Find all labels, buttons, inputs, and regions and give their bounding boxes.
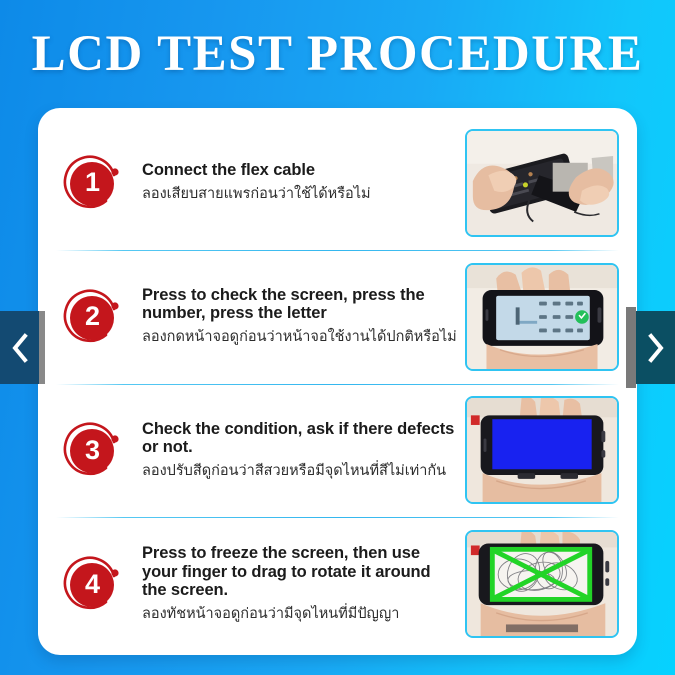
chevron-right-icon: [646, 333, 666, 363]
step-row: 4 Press to freeze the screen, then use y…: [38, 517, 637, 651]
step-title-en: Press to check the screen, press the num…: [142, 286, 457, 323]
step-title-en: Connect the flex cable: [142, 161, 457, 179]
step-photo: [465, 530, 619, 638]
step-number: 1: [60, 151, 124, 215]
steps-card: 1 Connect the flex cable ลองเสียบสายแพรก…: [38, 108, 637, 655]
carousel-prev-button[interactable]: [0, 311, 39, 384]
step-row: 2 Press to check the screen, press the n…: [38, 250, 637, 384]
flex-cable-photo-icon: [467, 131, 617, 235]
step-title-th: ลองทัชหน้าจอดูก่อนว่ามีจุดไหนที่มีปัญญา: [142, 605, 457, 625]
header: LCD TEST PROCEDURE: [0, 0, 675, 100]
page-title: LCD TEST PROCEDURE: [32, 25, 644, 83]
step-photo: [465, 263, 619, 371]
step-number-badge: 1: [58, 151, 132, 215]
step-row: 3 Check the condition, ask if there defe…: [38, 384, 637, 518]
step-row: 1 Connect the flex cable ลองเสียบสายแพรก…: [38, 116, 637, 250]
step-number-badge: 4: [58, 552, 132, 616]
step-number: 3: [60, 418, 124, 482]
step-number: 4: [60, 552, 124, 616]
step-number: 2: [60, 285, 124, 349]
step-text: Connect the flex cable ลองเสียบสายแพรก่อ…: [132, 161, 465, 204]
chevron-left-icon: [10, 333, 30, 363]
carousel-next-button[interactable]: [636, 311, 675, 384]
step-text: Press to freeze the screen, then use you…: [132, 544, 465, 624]
step-text: Check the condition, ask if there defect…: [132, 420, 465, 482]
step-number-badge: 2: [58, 285, 132, 349]
step-title-en: Press to freeze the screen, then use you…: [142, 544, 457, 599]
phone-dialer-photo-icon: [467, 265, 617, 369]
step-title-th: ลองปรับสีดูก่อนว่าสีสวยหรือมีจุดไหนที่สี…: [142, 462, 457, 482]
step-number-badge: 3: [58, 418, 132, 482]
touch-test-photo-icon: [467, 532, 617, 636]
blue-screen-test-photo-icon: [467, 398, 617, 502]
step-photo: [465, 396, 619, 504]
step-title-th: ลองเสียบสายแพรก่อนว่าใช้ได้หรือไม่: [142, 185, 457, 205]
step-title-th: ลองกดหน้าจอดูก่อนว่าหน้าจอใช้งานได้ปกติห…: [142, 328, 457, 348]
step-title-en: Check the condition, ask if there defect…: [142, 420, 457, 457]
step-text: Press to check the screen, press the num…: [132, 286, 465, 348]
step-photo: [465, 129, 619, 237]
